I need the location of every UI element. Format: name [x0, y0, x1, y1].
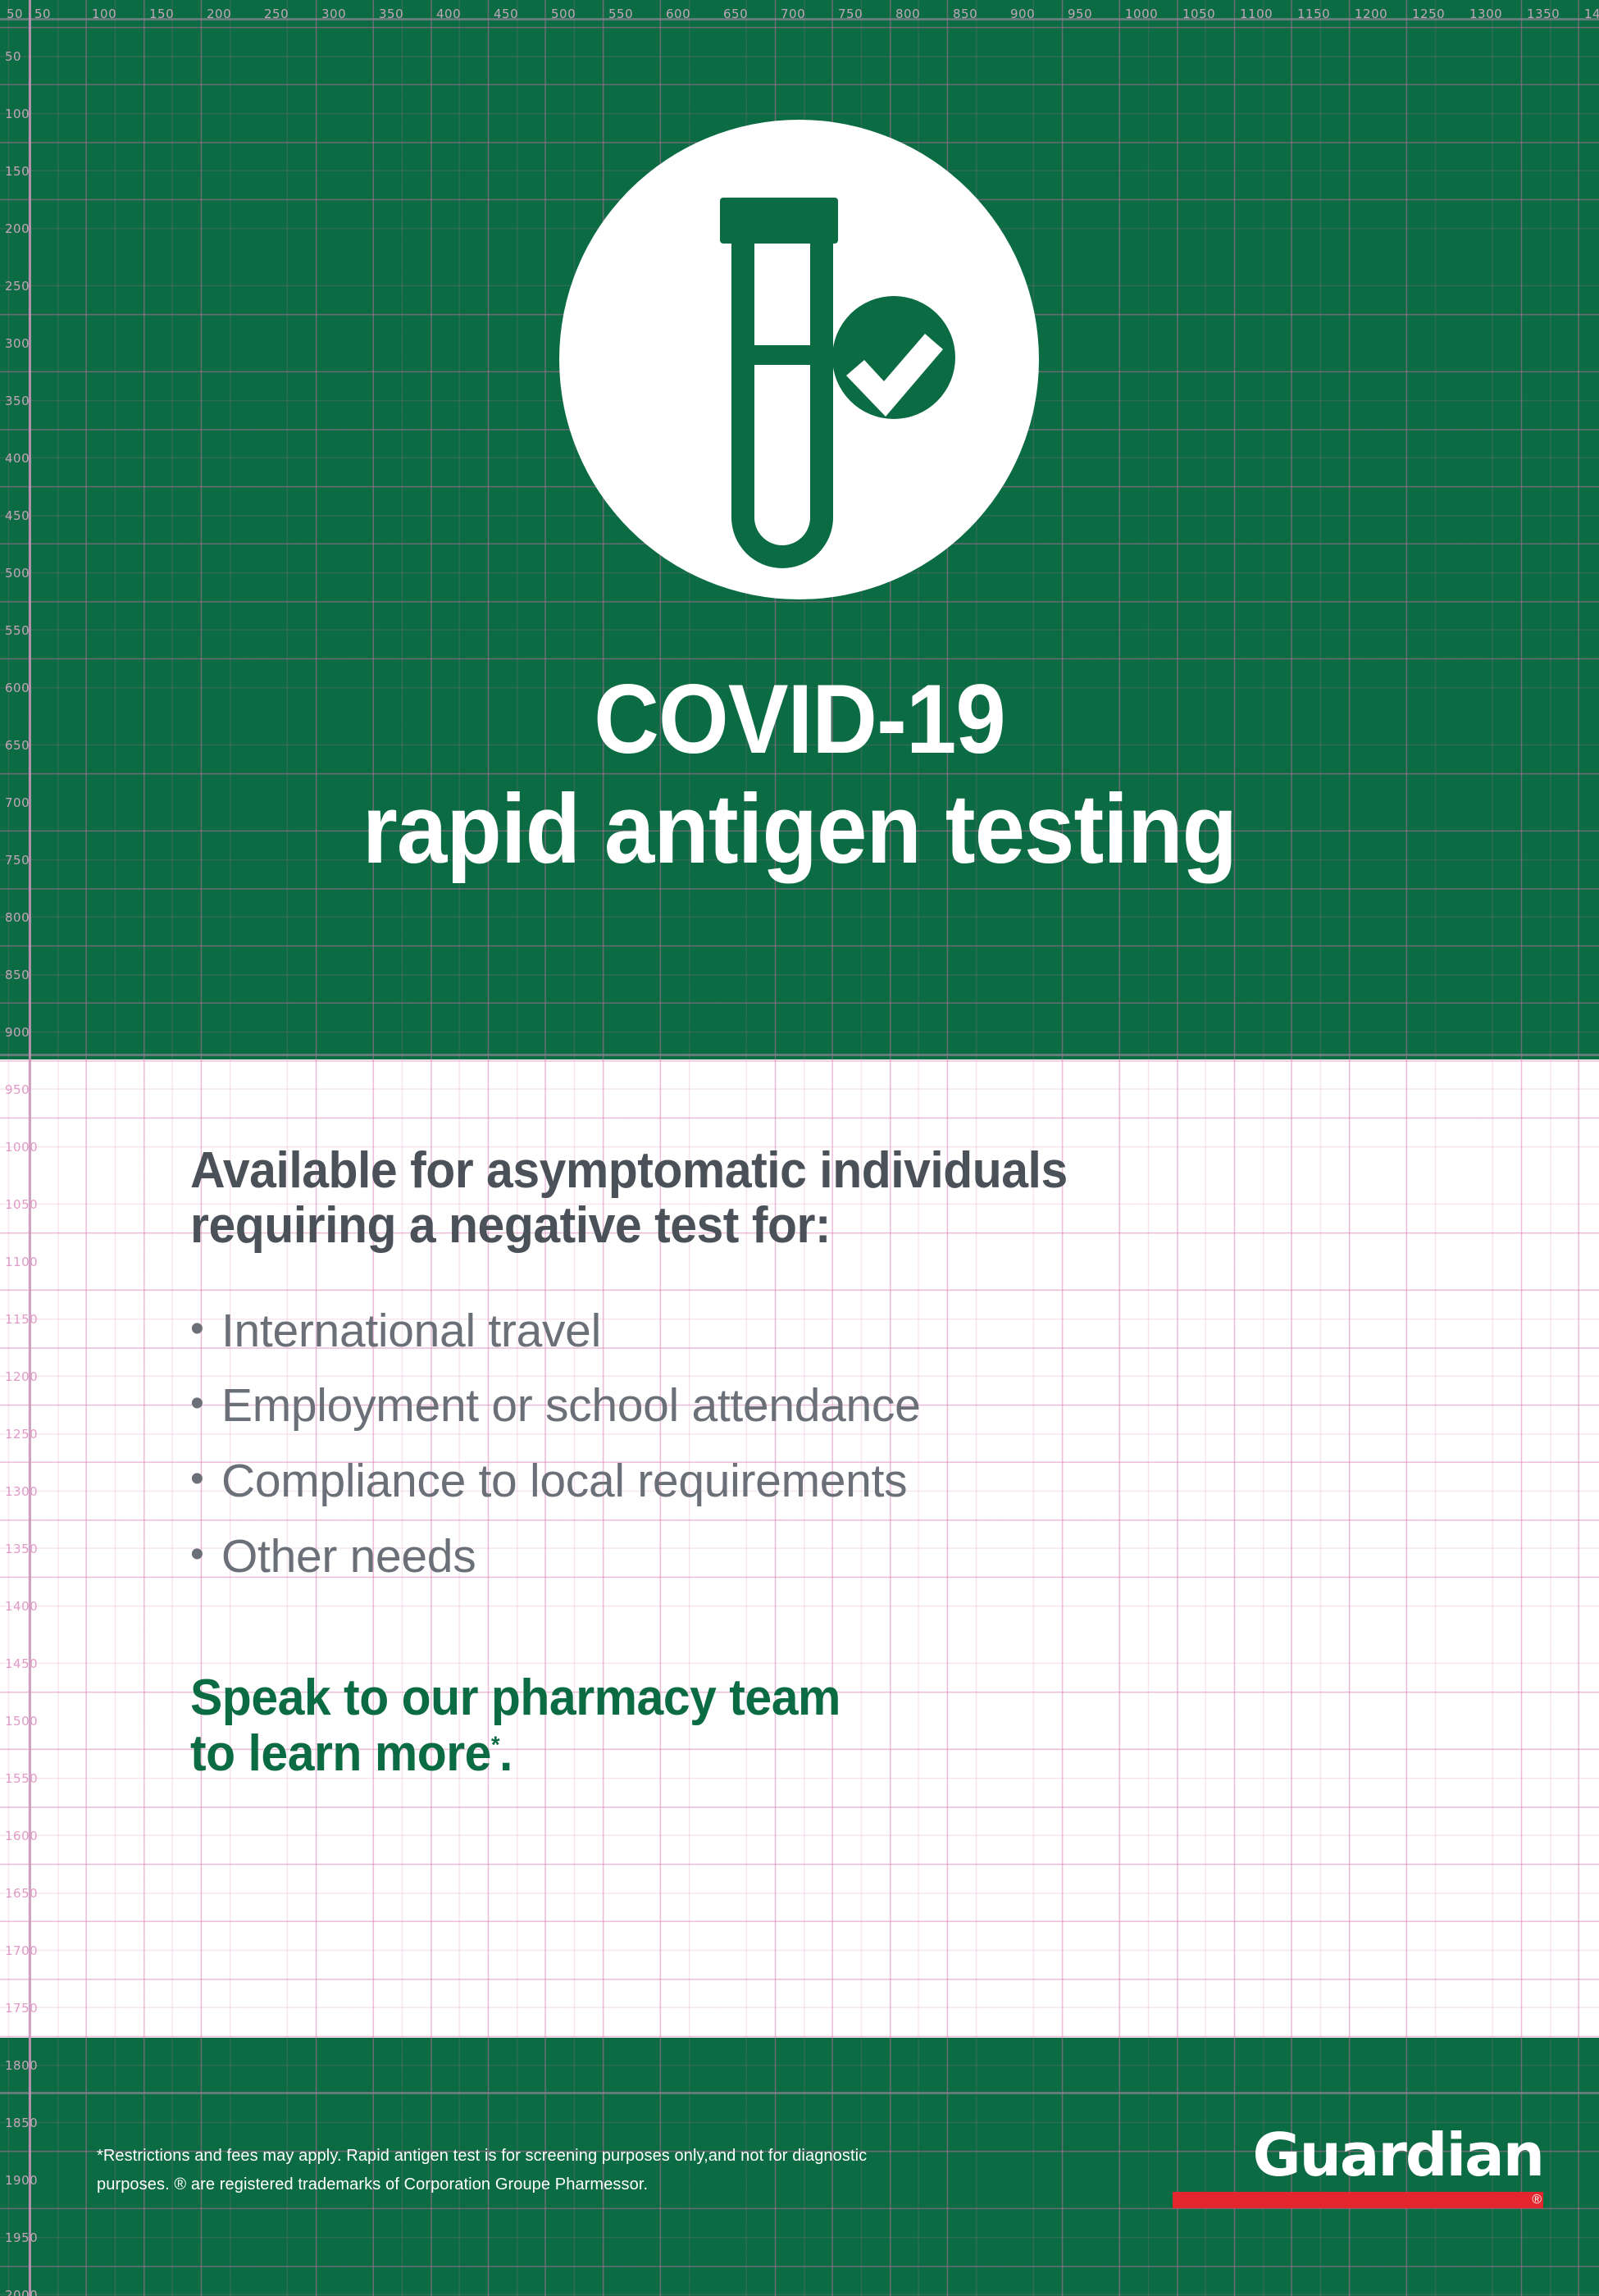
- horizontal-guide: [0, 18, 1599, 20]
- page-title: COVID-19 rapid antigen testing: [64, 664, 1535, 885]
- horizontal-guide: [0, 1054, 1599, 1056]
- list-item-label: International travel: [221, 1306, 601, 1357]
- test-tube-with-checkmark-icon: [559, 120, 1039, 599]
- cta-period: .: [499, 1725, 512, 1782]
- call-to-action: Speak to our pharmacy team to learn more…: [190, 1670, 1405, 1782]
- bullet-marker-icon: •: [190, 1381, 221, 1426]
- subheading-line-2: requiring a negative test for:: [190, 1199, 1405, 1254]
- list-item: • Compliance to local requirements: [190, 1456, 1469, 1507]
- cta-line-1: Speak to our pharmacy team: [190, 1670, 1405, 1726]
- subheading: Available for asymptomatic individuals r…: [190, 1144, 1405, 1254]
- subheading-line-1: Available for asymptomatic individuals: [190, 1144, 1405, 1199]
- list-item-label: Compliance to local requirements: [221, 1456, 907, 1507]
- list-item-label: Employment or school attendance: [221, 1381, 921, 1432]
- bullet-marker-icon: •: [190, 1456, 221, 1501]
- poster-canvas: COVID-19 rapid antigen testing Available…: [0, 0, 1599, 2296]
- horizontal-guide: [0, 2092, 1599, 2094]
- brand-wordmark: Guardian: [1173, 2125, 1543, 2184]
- cta-asterisk: *: [491, 1733, 499, 1759]
- registered-trademark-icon: ®: [1532, 2193, 1542, 2207]
- brand-red-rule: [1173, 2192, 1543, 2208]
- list-item-label: Other needs: [221, 1532, 476, 1583]
- title-line-1: COVID-19: [64, 664, 1535, 774]
- bullet-marker-icon: •: [190, 1532, 221, 1577]
- bullet-marker-icon: •: [190, 1306, 221, 1351]
- title-line-2: rapid antigen testing: [64, 774, 1535, 884]
- disclaimer-line-1: *Restrictions and fees may apply. Rapid …: [97, 2142, 925, 2171]
- vertical-guide: [29, 0, 31, 2296]
- list-item: • International travel: [190, 1306, 1469, 1357]
- body-content: Available for asymptomatic individuals r…: [190, 1144, 1469, 1782]
- legal-disclaimer: *Restrictions and fees may apply. Rapid …: [97, 2142, 925, 2199]
- list-item: • Other needs: [190, 1532, 1469, 1583]
- cta-line-2-text: to learn more: [190, 1725, 491, 1782]
- guardian-logo: Guardian ®: [1173, 2125, 1543, 2208]
- list-item: • Employment or school attendance: [190, 1381, 1469, 1432]
- cta-line-2: to learn more*.: [190, 1726, 1405, 1782]
- disclaimer-line-2: purposes. ® are registered trademarks of…: [97, 2171, 925, 2199]
- brand-bar: ®: [1173, 2192, 1543, 2208]
- eligibility-list: • International travel • Employment or s…: [190, 1306, 1469, 1582]
